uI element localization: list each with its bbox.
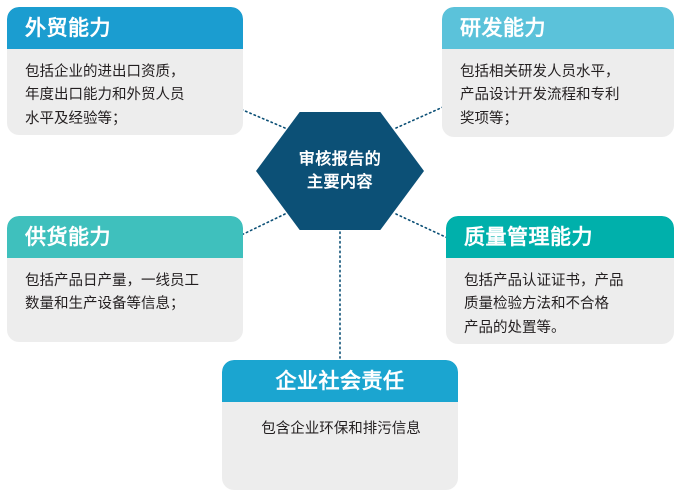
node-body-line: 水平及经验等； bbox=[25, 108, 227, 131]
node-body-line: 年度出口能力和外贸人员 bbox=[25, 84, 227, 107]
node-body-quality: 包括产品认证证书，产品 质量检验方法和不合格 产品的处置等。 bbox=[446, 258, 674, 344]
hub-node[interactable]: 审核报告的 主要内容 bbox=[256, 112, 424, 230]
node-card-rnd[interactable]: 研发能力 包括相关研发人员水平， 产品设计开发流程和专利 奖项等； bbox=[442, 7, 674, 137]
node-body-line: 数量和生产设备等信息； bbox=[25, 293, 227, 316]
node-body-rnd: 包括相关研发人员水平， 产品设计开发流程和专利 奖项等； bbox=[442, 49, 674, 137]
node-header-foreign-trade: 外贸能力 bbox=[7, 7, 243, 49]
node-body-line: 包括产品日产量，一线员工 bbox=[25, 270, 227, 293]
node-card-supply[interactable]: 供货能力 包括产品日产量，一线员工 数量和生产设备等信息； bbox=[7, 216, 243, 342]
node-card-csr[interactable]: 企业社会责任 包含企业环保和排污信息 bbox=[222, 360, 458, 490]
node-header-supply: 供货能力 bbox=[7, 216, 243, 258]
node-body-line: 产品设计开发流程和专利 bbox=[460, 84, 658, 107]
hub-label-line: 审核报告的 bbox=[299, 148, 382, 171]
hub-label-line: 主要内容 bbox=[307, 171, 373, 194]
node-title-rnd: 研发能力 bbox=[460, 18, 546, 39]
node-body-line: 包括相关研发人员水平， bbox=[460, 61, 658, 84]
node-body-line: 包括企业的进出口资质， bbox=[25, 61, 227, 84]
node-header-rnd: 研发能力 bbox=[442, 7, 674, 49]
node-header-csr: 企业社会责任 bbox=[222, 360, 458, 402]
node-body-line: 奖项等； bbox=[460, 108, 658, 131]
node-card-foreign-trade[interactable]: 外贸能力 包括企业的进出口资质， 年度出口能力和外贸人员 水平及经验等； bbox=[7, 7, 243, 135]
node-title-foreign-trade: 外贸能力 bbox=[25, 18, 111, 39]
node-body-foreign-trade: 包括企业的进出口资质， 年度出口能力和外贸人员 水平及经验等； bbox=[7, 49, 243, 135]
node-card-quality[interactable]: 质量管理能力 包括产品认证证书，产品 质量检验方法和不合格 产品的处置等。 bbox=[446, 216, 674, 344]
node-title-csr: 企业社会责任 bbox=[276, 371, 405, 392]
hub-label: 审核报告的 主要内容 bbox=[256, 112, 424, 230]
node-body-line: 质量检验方法和不合格 bbox=[464, 293, 658, 316]
node-body-supply: 包括产品日产量，一线员工 数量和生产设备等信息； bbox=[7, 258, 243, 327]
node-body-csr: 包含企业环保和排污信息 bbox=[222, 402, 458, 451]
node-body-line: 包含企业环保和排污信息 bbox=[240, 418, 442, 441]
node-title-supply: 供货能力 bbox=[25, 227, 111, 248]
node-header-quality: 质量管理能力 bbox=[446, 216, 674, 258]
audit-report-contents-diagram: 外贸能力 包括企业的进出口资质， 年度出口能力和外贸人员 水平及经验等； 研发能… bbox=[0, 0, 679, 497]
node-body-line: 包括产品认证证书，产品 bbox=[464, 270, 658, 293]
node-title-quality: 质量管理能力 bbox=[464, 227, 593, 248]
node-body-line: 产品的处置等。 bbox=[464, 317, 658, 340]
